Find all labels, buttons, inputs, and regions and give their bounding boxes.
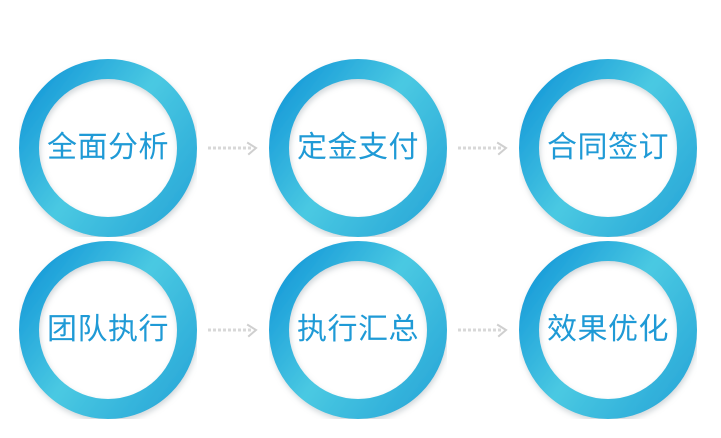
- process-flow-diagram: 全面分析定金支付合同签订团队执行执行汇总效果优化: [0, 0, 721, 438]
- connector-arrow: [458, 325, 506, 336]
- process-node-2[interactable]: 定金支付: [269, 59, 447, 237]
- process-node-label-6: 效果优化: [519, 241, 697, 419]
- process-node-label-3: 合同签订: [519, 59, 697, 237]
- process-node-4[interactable]: 团队执行: [19, 241, 197, 419]
- process-node-label-1: 全面分析: [19, 59, 197, 237]
- process-node-6[interactable]: 效果优化: [519, 241, 697, 419]
- connector-arrow: [458, 143, 506, 154]
- connector-arrow: [208, 325, 256, 336]
- process-node-1[interactable]: 全面分析: [19, 59, 197, 237]
- process-node-label-2: 定金支付: [269, 59, 447, 237]
- connector-arrow: [208, 143, 256, 154]
- process-node-label-4: 团队执行: [19, 241, 197, 419]
- process-node-5[interactable]: 执行汇总: [269, 241, 447, 419]
- process-node-label-5: 执行汇总: [269, 241, 447, 419]
- process-node-3[interactable]: 合同签订: [519, 59, 697, 237]
